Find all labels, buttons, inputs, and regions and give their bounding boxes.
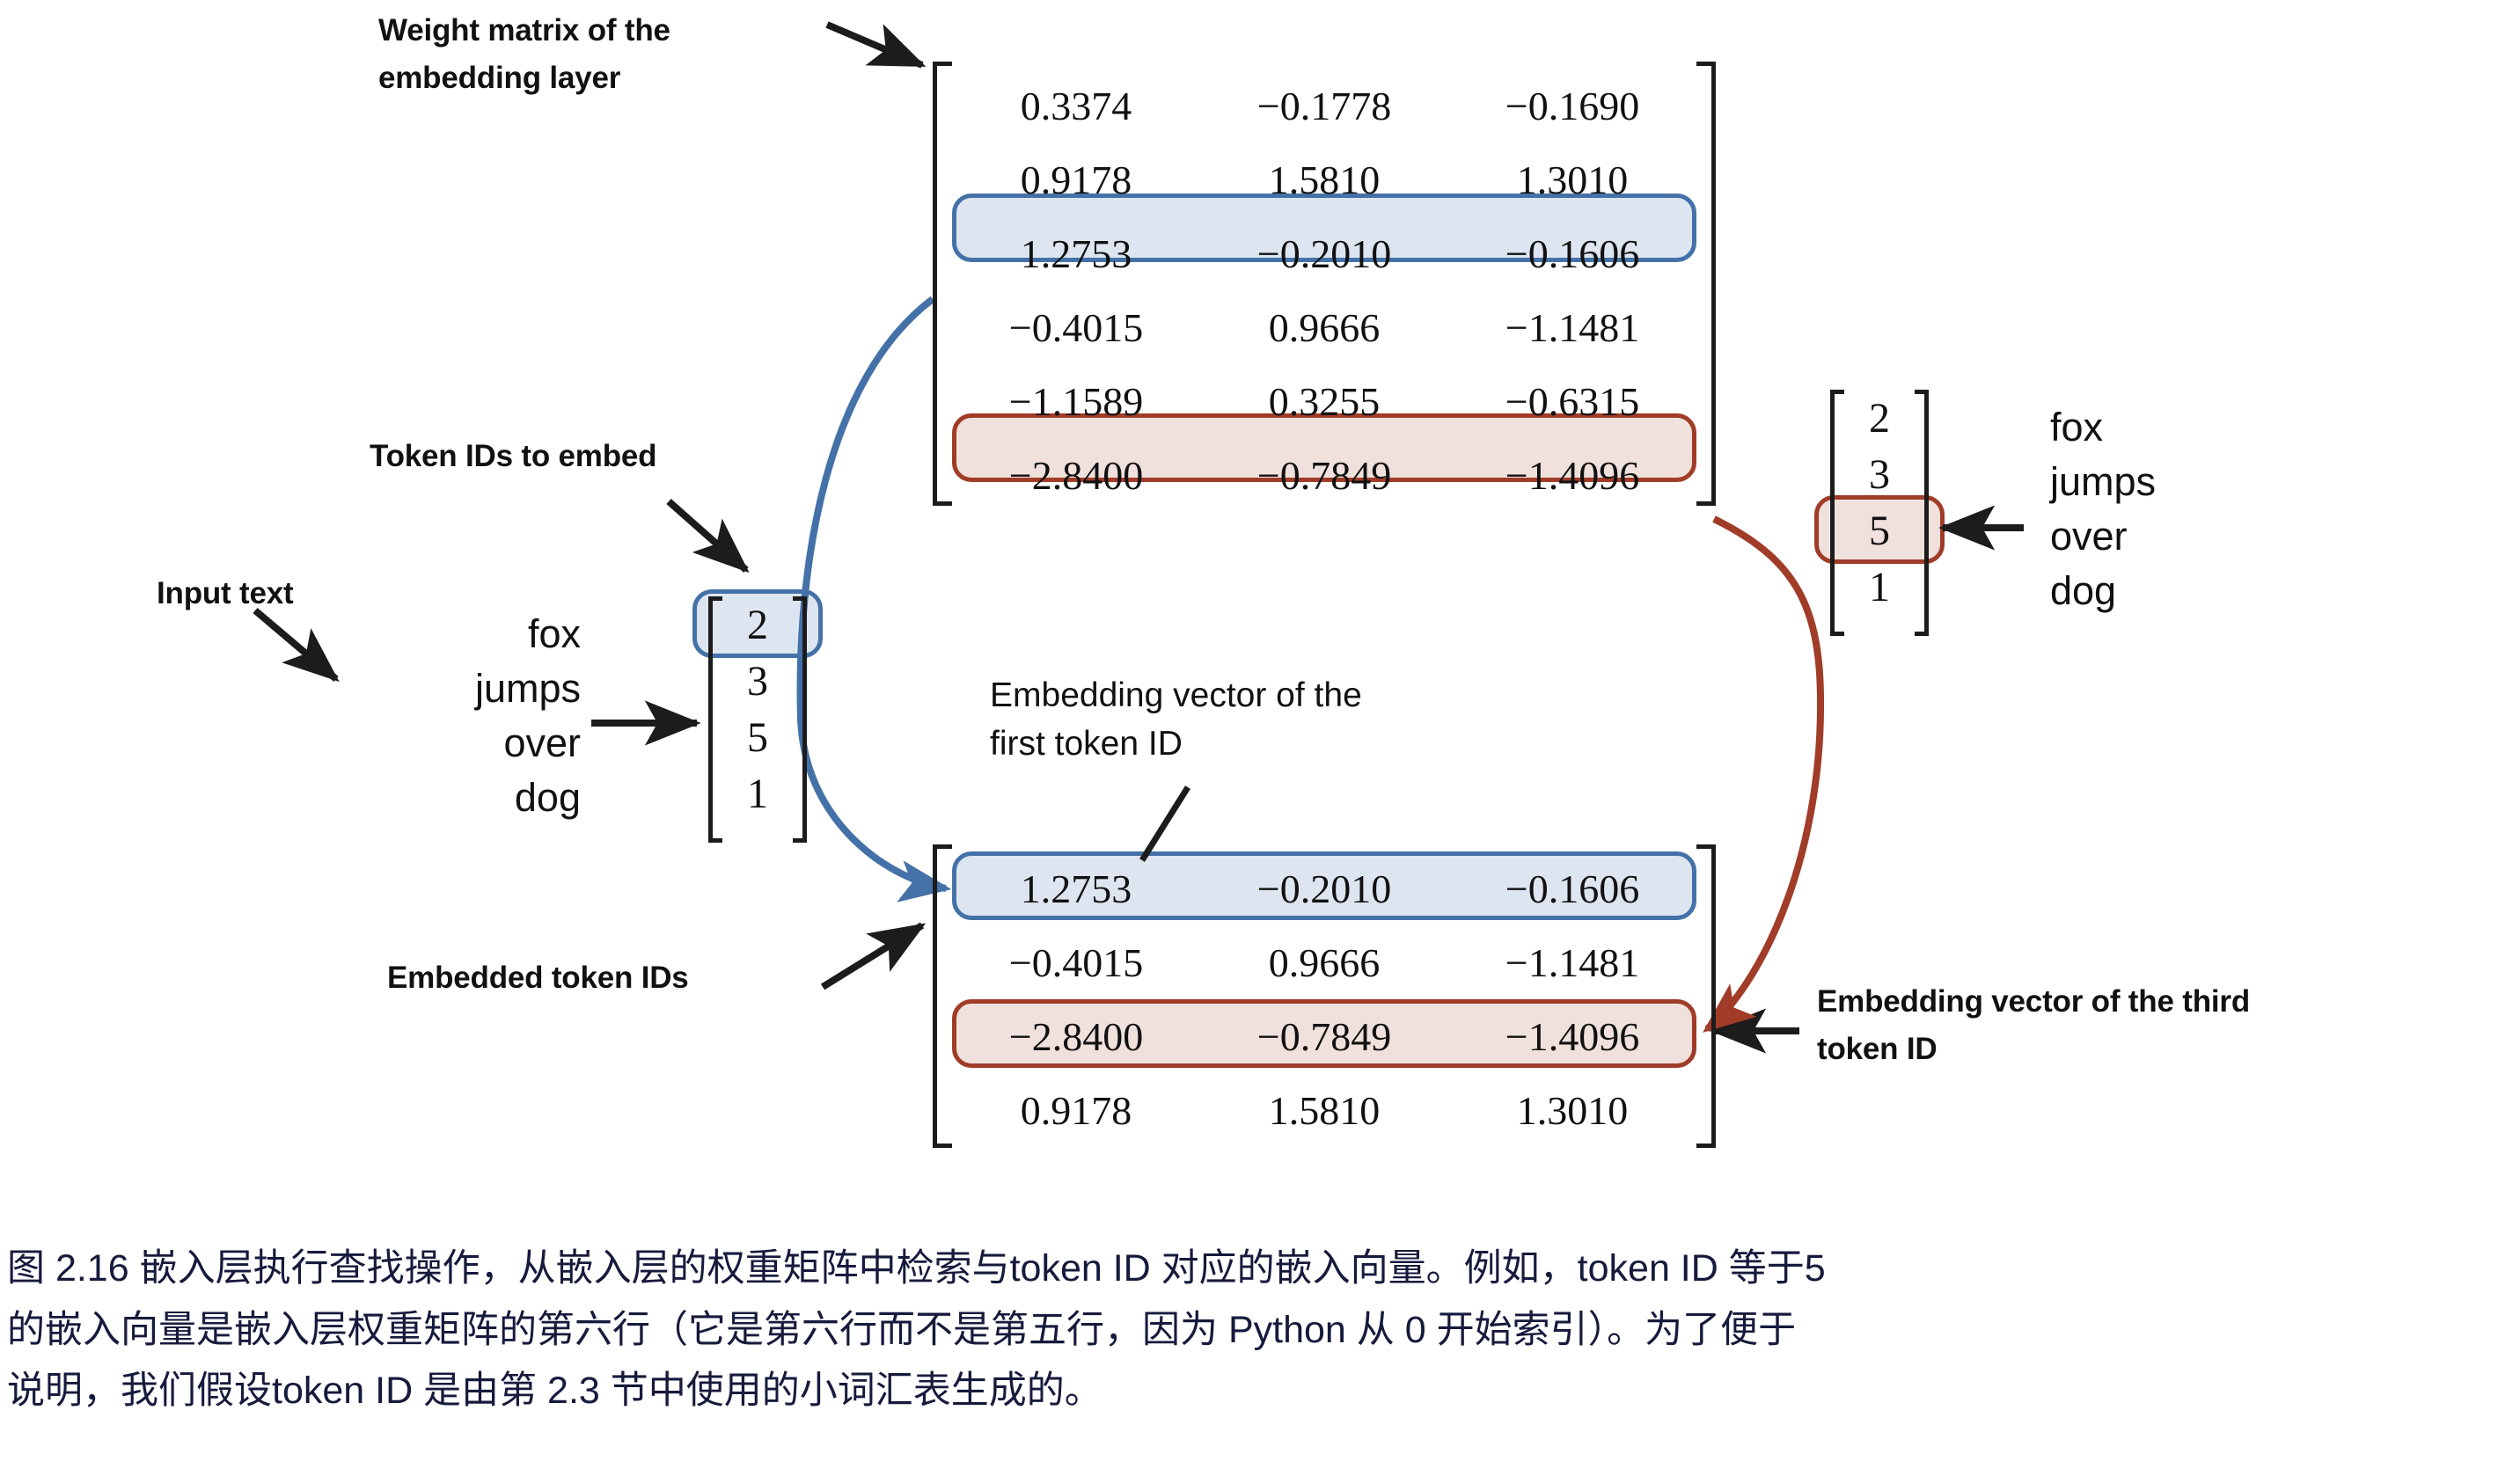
token-id-cell: 3 bbox=[1830, 446, 1929, 502]
matrix-cell: 1.3010 bbox=[1448, 157, 1696, 203]
red-lookup-curve bbox=[1707, 519, 1820, 1029]
matrix-cell: 0.9178 bbox=[952, 157, 1200, 203]
matrix-row: 1.2753 −0.2010 −0.1606 bbox=[952, 851, 1696, 925]
matrix-row: −0.4015 0.9666 −1.1481 bbox=[952, 925, 1696, 999]
matrix-cell: −0.4015 bbox=[952, 304, 1200, 351]
figure-caption: 图 2.16 嵌入层执行查找操作，从嵌入层的权重矩阵中检索与token ID 对… bbox=[7, 1239, 2513, 1422]
matrix-cell: −0.7849 bbox=[1200, 1013, 1448, 1060]
matrix-cell: −0.6315 bbox=[1448, 378, 1696, 425]
token-id-cell: 2 bbox=[1830, 390, 1929, 446]
token-id-cell: 5 bbox=[1830, 502, 1929, 559]
matrix-cell: −0.7849 bbox=[1200, 452, 1448, 499]
matrix-cell: 0.9178 bbox=[952, 1087, 1200, 1134]
embedded-matrix: 1.2753 −0.2010 −0.1606 −0.4015 0.9666 −1… bbox=[933, 844, 1716, 1148]
matrix-cell: 1.5810 bbox=[1200, 157, 1448, 203]
token-id-vector-left: 2 3 5 1 bbox=[708, 596, 807, 843]
matrix-cell: −1.1589 bbox=[952, 378, 1200, 425]
caption-line: 的嵌入向量是嵌入层权重矩阵的第六行（它是第六行而不是第五行，因为 Python … bbox=[7, 1300, 2513, 1362]
input-word: over bbox=[387, 716, 581, 771]
matrix-cell: −0.1606 bbox=[1448, 866, 1696, 912]
output-word: over bbox=[2050, 509, 2279, 564]
matrix-cell: 1.5810 bbox=[1200, 1087, 1448, 1134]
blue-lookup-curve bbox=[801, 299, 946, 888]
matrix-row: 0.3374 −0.1778 −0.1690 bbox=[952, 69, 1696, 142]
weight-matrix: 0.3374 −0.1778 −0.1690 0.9178 1.5810 1.3… bbox=[933, 62, 1716, 506]
output-word: dog bbox=[2050, 564, 2279, 618]
matrix-row: −2.8400 −0.7849 −1.4096 bbox=[952, 438, 1696, 512]
input-word: fox bbox=[387, 607, 581, 661]
matrix-cell: −0.1690 bbox=[1448, 83, 1696, 129]
output-text-words: fox jumps over dog bbox=[2050, 400, 2279, 618]
matrix-row: −2.8400 −0.7849 −1.4096 bbox=[952, 999, 1696, 1073]
matrix-cell: 0.3374 bbox=[952, 83, 1200, 129]
token-id-vector-right: 2 3 5 1 bbox=[1830, 390, 1929, 636]
arrow-to-token-ids bbox=[669, 501, 746, 570]
matrix-row: −0.4015 0.9666 −1.1481 bbox=[952, 290, 1696, 364]
arrow-to-input-text bbox=[255, 610, 336, 679]
label-embedding-vector-first: Embedding vector of the first token ID bbox=[990, 671, 1571, 769]
matrix-cell: −2.8400 bbox=[952, 1013, 1200, 1060]
token-id-cell: 5 bbox=[708, 709, 807, 765]
label-token-ids-to-embed: Token IDs to embed bbox=[370, 433, 827, 480]
output-word: jumps bbox=[2050, 455, 2279, 509]
matrix-row: 0.9178 1.5810 1.3010 bbox=[952, 142, 1696, 216]
matrix-cell: −1.1481 bbox=[1448, 304, 1696, 351]
matrix-cell: 0.3255 bbox=[1200, 378, 1448, 425]
input-word: dog bbox=[387, 771, 581, 825]
matrix-cell: −0.2010 bbox=[1200, 866, 1448, 912]
matrix-cell: 1.2753 bbox=[952, 866, 1200, 912]
output-word: fox bbox=[2050, 400, 2279, 455]
matrix-cell: −2.8400 bbox=[952, 452, 1200, 499]
matrix-cell: 0.9666 bbox=[1200, 939, 1448, 986]
matrix-cell: 1.3010 bbox=[1448, 1087, 1696, 1134]
input-text-words: fox jumps over dog bbox=[387, 607, 581, 825]
input-word: jumps bbox=[387, 661, 581, 716]
matrix-cell: −0.2010 bbox=[1200, 230, 1448, 277]
caption-line: 图 2.16 嵌入层执行查找操作，从嵌入层的权重矩阵中检索与token ID 对… bbox=[7, 1239, 2513, 1300]
matrix-cell: −1.1481 bbox=[1448, 939, 1696, 986]
label-weight-matrix: Weight matrix of the embedding layer bbox=[378, 7, 836, 103]
label-embedding-vector-third: Embedding vector of the third token ID bbox=[1817, 978, 2433, 1074]
label-embedded-token-ids: Embedded token IDs bbox=[387, 954, 845, 1002]
matrix-row: 1.2753 −0.2010 −0.1606 bbox=[952, 216, 1696, 290]
matrix-cell: 1.2753 bbox=[952, 230, 1200, 277]
caption-line: 说明，我们假设token ID 是由第 2.3 节中使用的小词汇表生成的。 bbox=[7, 1361, 2513, 1422]
matrix-cell: −1.4096 bbox=[1448, 1013, 1696, 1060]
matrix-row: 0.9178 1.5810 1.3010 bbox=[952, 1073, 1696, 1147]
matrix-row: −1.1589 0.3255 −0.6315 bbox=[952, 364, 1696, 438]
token-id-cell: 1 bbox=[708, 765, 807, 822]
matrix-cell: −1.4096 bbox=[1448, 452, 1696, 499]
matrix-cell: −0.1606 bbox=[1448, 230, 1696, 277]
matrix-cell: −0.1778 bbox=[1200, 83, 1448, 129]
token-id-cell: 1 bbox=[1830, 559, 1929, 615]
token-id-cell: 3 bbox=[708, 653, 807, 709]
matrix-cell: −0.4015 bbox=[952, 939, 1200, 986]
arrow-to-weight-matrix bbox=[827, 25, 922, 65]
matrix-cell: 0.9666 bbox=[1200, 304, 1448, 351]
token-id-cell: 2 bbox=[708, 596, 807, 653]
